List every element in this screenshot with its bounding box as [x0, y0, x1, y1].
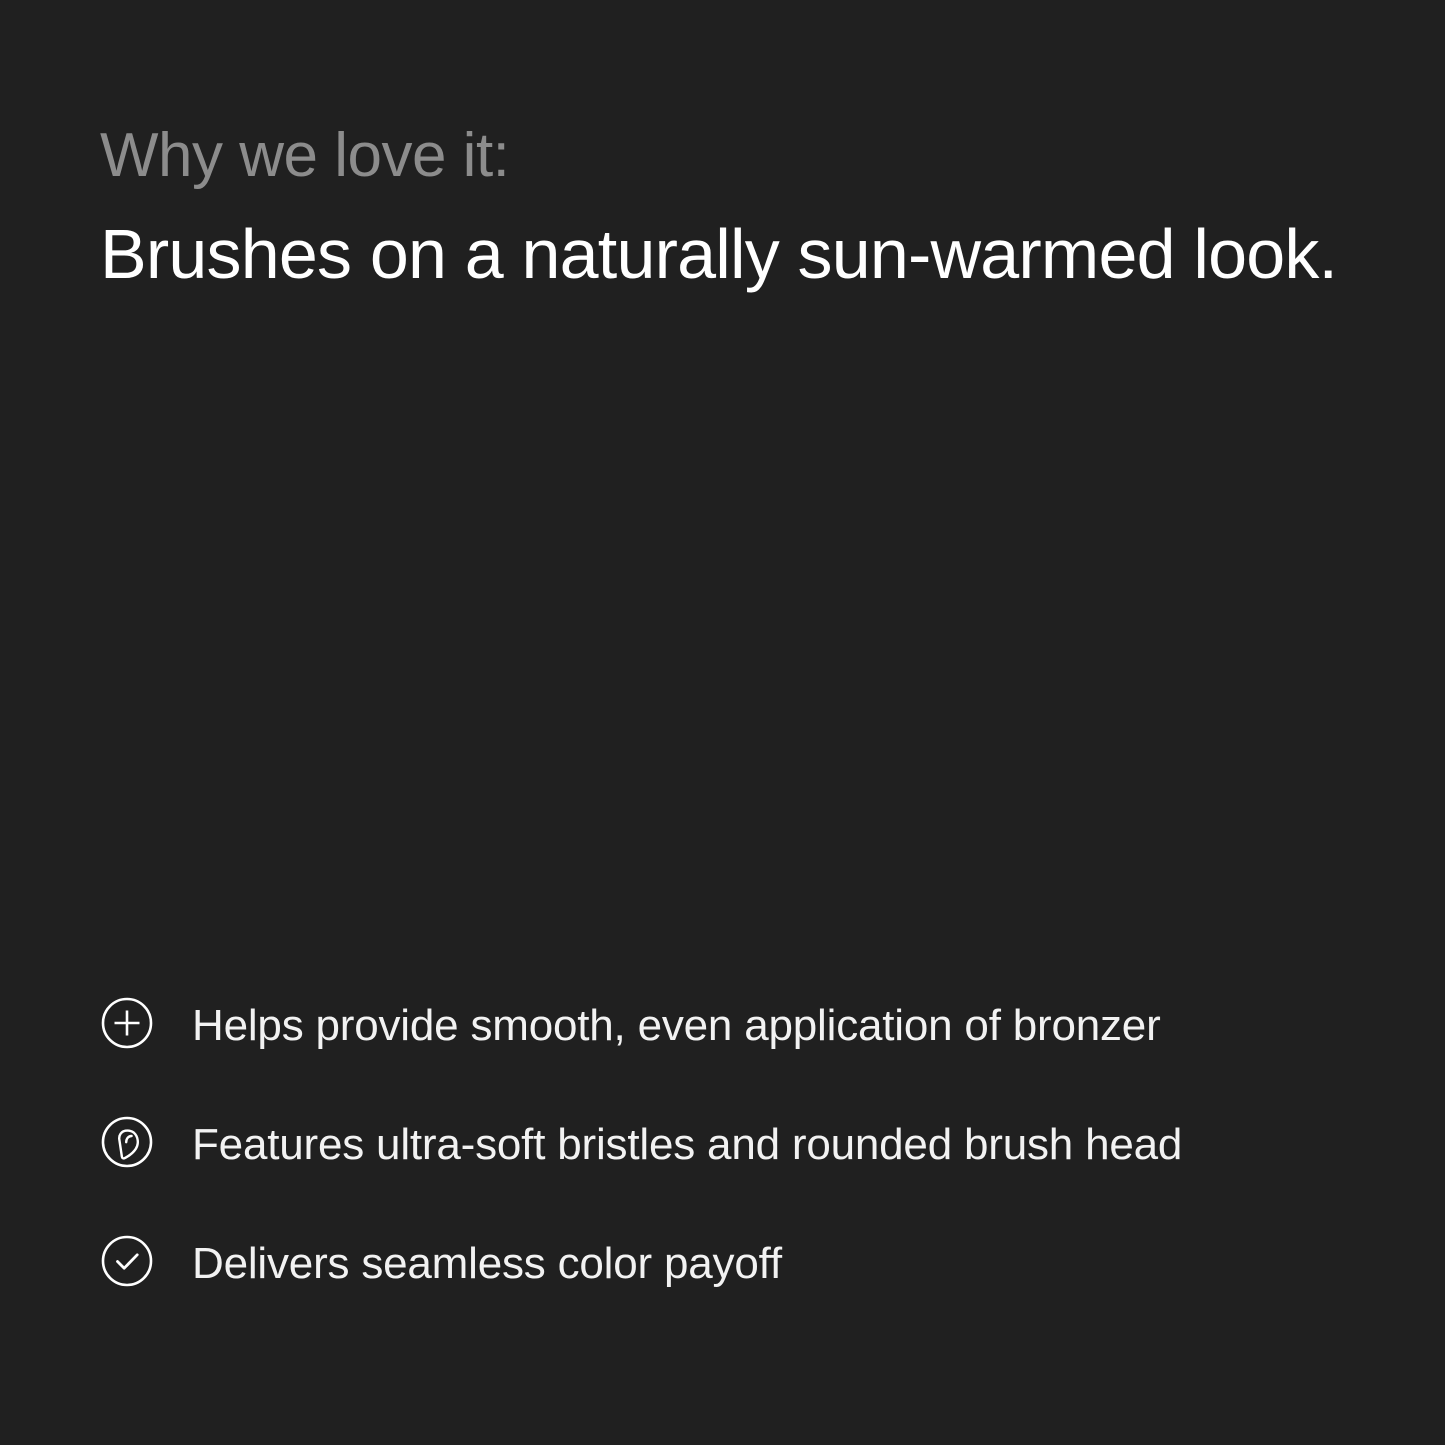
benefit-text: Delivers seamless color payoff: [192, 1232, 782, 1295]
list-item: Helps provide smooth, even application o…: [100, 994, 1350, 1057]
list-item: Features ultra-soft bristles and rounded…: [100, 1113, 1350, 1176]
eyebrow-label: Why we love it:: [100, 108, 1350, 204]
heading-block: Why we love it: Brushes on a naturally s…: [100, 108, 1350, 302]
benefit-text: Helps provide smooth, even application o…: [192, 994, 1161, 1057]
why-we-love-it-panel: Why we love it: Brushes on a naturally s…: [0, 0, 1445, 1445]
plus-circle-icon: [100, 996, 154, 1050]
benefits-list: Helps provide smooth, even application o…: [100, 994, 1350, 1295]
list-item: Delivers seamless color payoff: [100, 1232, 1350, 1295]
benefit-text: Features ultra-soft bristles and rounded…: [192, 1113, 1182, 1176]
check-circle-icon: [100, 1234, 154, 1288]
fingerprint-circle-icon: [100, 1115, 154, 1169]
page-title: Brushes on a naturally sun-warmed look.: [100, 206, 1350, 302]
